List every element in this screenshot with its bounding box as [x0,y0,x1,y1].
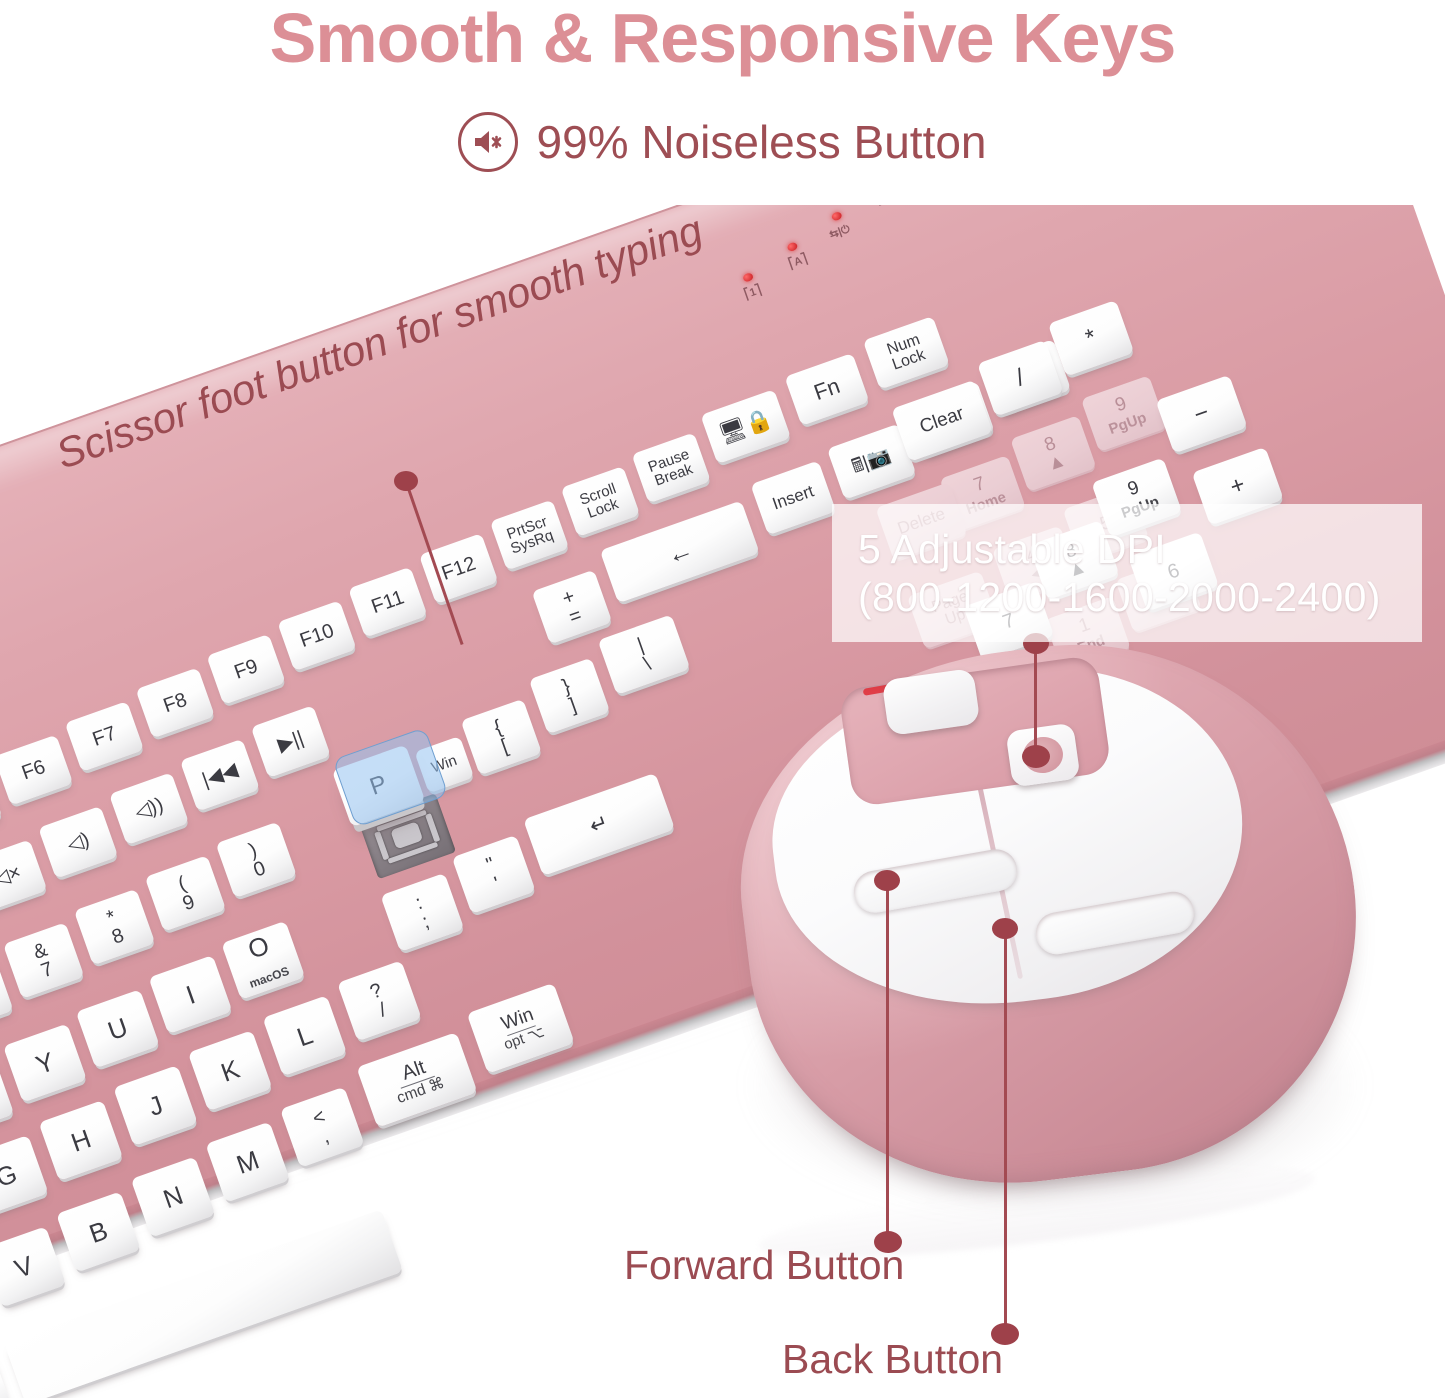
forward-leader-dot-bottom [874,1231,902,1253]
key-numpad-minus[interactable]: − [1156,375,1248,454]
dpi-callout-line1: 5 Adjustable DPI [858,525,1422,573]
back-leader-dot-bottom [991,1323,1019,1345]
infographic-canvas: Smooth & Responsive Keys 99% Noiseless B… [0,0,1445,1398]
back-leader-dot-top [992,918,1018,939]
mouse-device [735,630,1375,1250]
page-title: Smooth & Responsive Keys [0,2,1445,76]
forward-button-label: Forward Button [624,1242,904,1289]
scissor-leader-dot-top [394,471,418,491]
forward-leader-line [886,880,889,1240]
forward-leader-dot-top [874,870,900,891]
back-leader-line [1004,928,1007,1332]
noiseless-subtitle-row: 99% Noiseless Button [0,112,1445,172]
dpi-callout-line2: (800-1200-1600-2000-2400) [858,573,1422,621]
speaker-mute-icon [458,112,518,172]
dpi-leader-dot-bottom [1022,745,1050,768]
noiseless-subtitle-text: 99% Noiseless Button [536,119,986,165]
dpi-leader-line [1034,643,1037,757]
back-button-label: Back Button [782,1336,1003,1383]
dpi-callout-panel: 5 Adjustable DPI (800-1200-1600-2000-240… [832,504,1422,642]
